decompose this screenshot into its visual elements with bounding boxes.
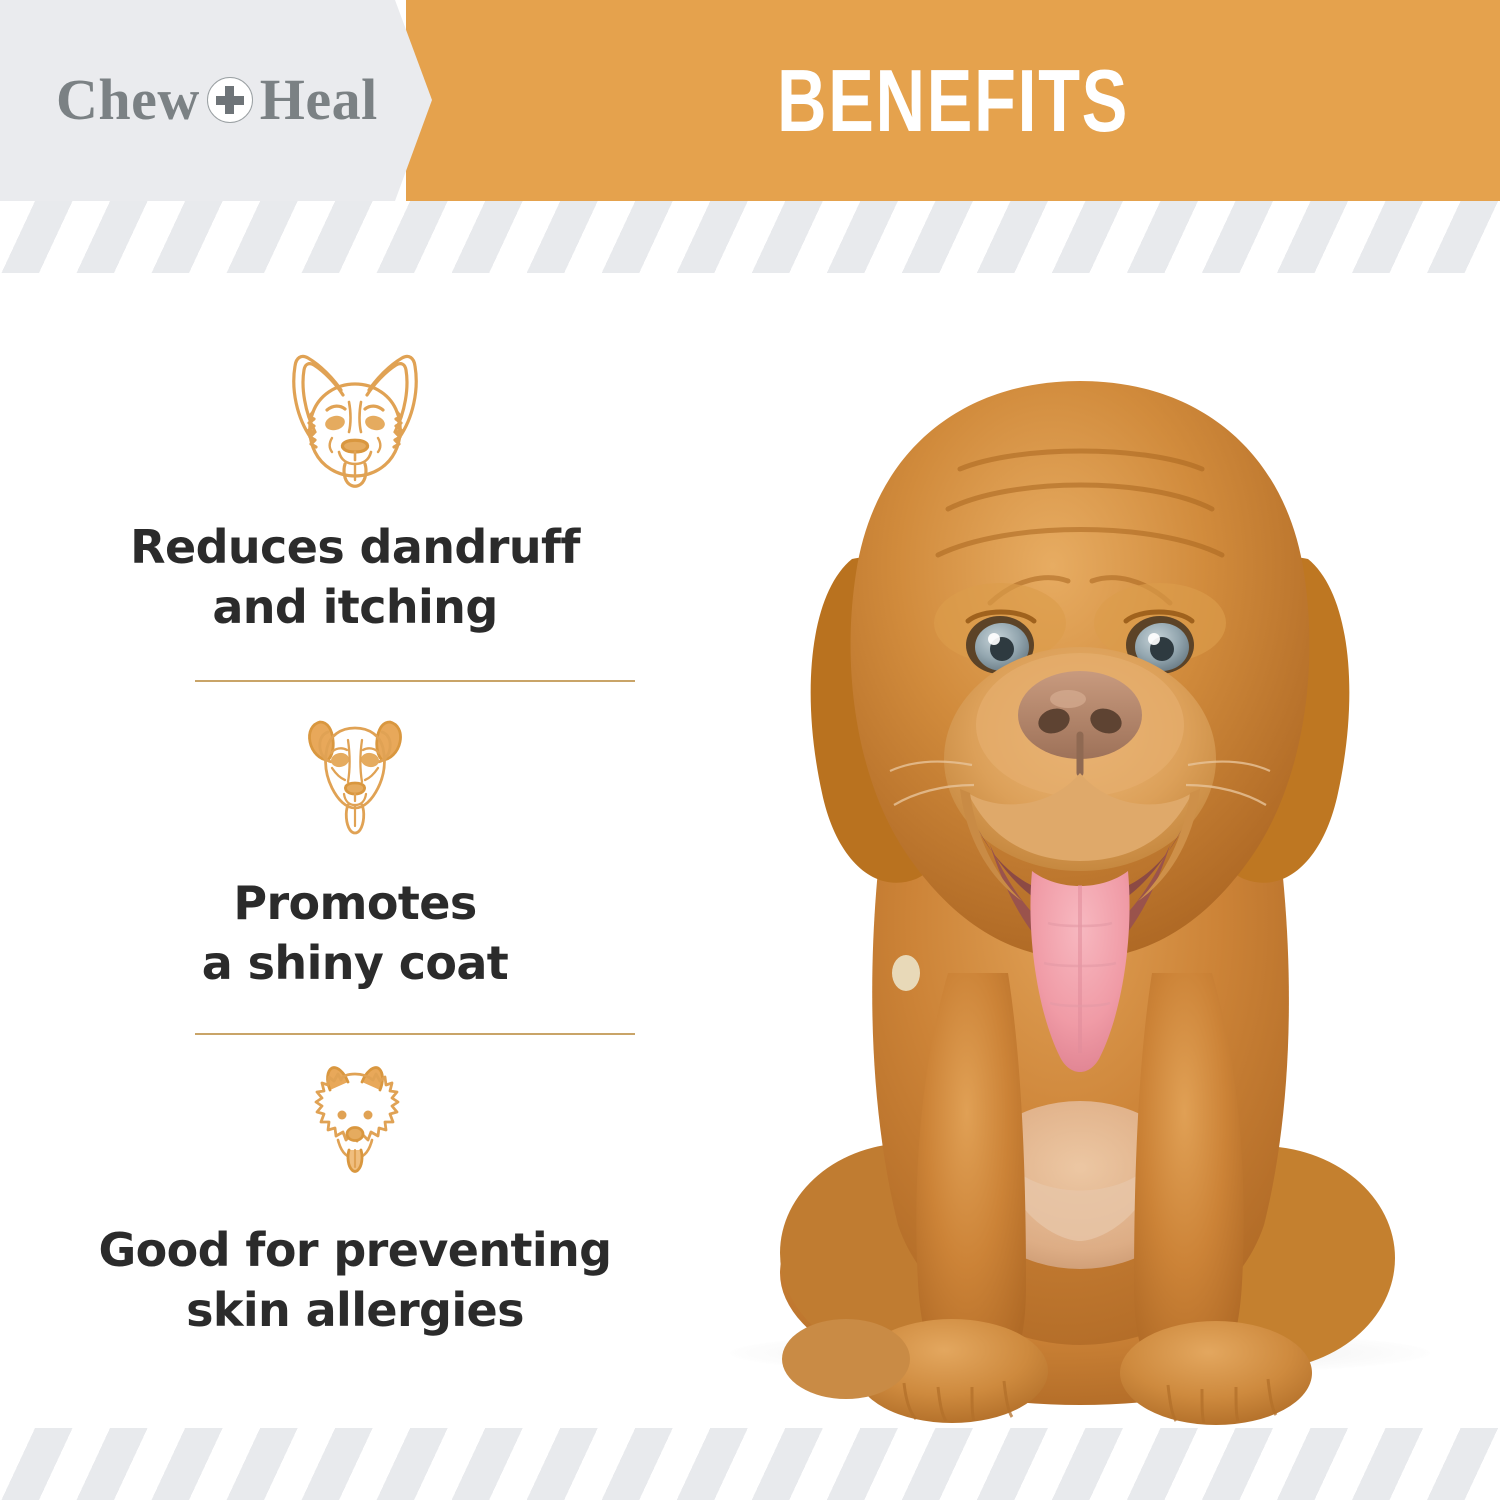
benefit-item-2: Promotes a shiny coat	[60, 708, 650, 994]
benefit-line-2: a shiny coat	[60, 934, 650, 994]
corgi-dog-face-icon	[60, 340, 650, 492]
benefit-line-2: and itching	[60, 578, 650, 638]
divider-1	[195, 680, 635, 682]
bottom-stripe-band	[0, 1428, 1500, 1500]
brand-logo: Chew Heal	[56, 67, 378, 133]
benefits-list: Reduces dandruff and itching	[60, 300, 650, 1360]
benefit-item-1: Reduces dandruff and itching	[60, 340, 650, 638]
samoyed-dog-face-icon	[60, 1060, 650, 1195]
top-stripe-band	[0, 201, 1500, 273]
benefit-line-1: Good for preventing	[99, 1223, 612, 1277]
benefit-line-1: Promotes	[233, 876, 476, 930]
benefit-text-1: Reduces dandruff and itching	[60, 518, 650, 638]
header-banner: Chew Heal BENEFITS	[0, 0, 1500, 201]
brand-name-right: Heal	[260, 71, 378, 129]
brand-name-left: Chew	[56, 71, 200, 129]
page-title: BENEFITS	[526, 0, 1379, 201]
puppy-illustration	[660, 273, 1500, 1428]
benefit-line-2: skin allergies	[60, 1281, 650, 1341]
plus-vertical-bar	[225, 86, 234, 114]
divider-2	[195, 1033, 635, 1035]
benefit-text-3: Good for preventing skin allergies	[60, 1221, 650, 1341]
product-photo-puppy	[660, 273, 1500, 1428]
benefit-item-3: Good for preventing skin allergies	[60, 1060, 650, 1341]
terrier-dog-face-icon	[60, 708, 650, 848]
benefit-line-1: Reduces dandruff	[130, 520, 580, 574]
benefit-text-2: Promotes a shiny coat	[60, 874, 650, 994]
infographic-page: Chew Heal BENEFITS	[0, 0, 1500, 1500]
plus-in-circle-icon	[207, 77, 253, 123]
